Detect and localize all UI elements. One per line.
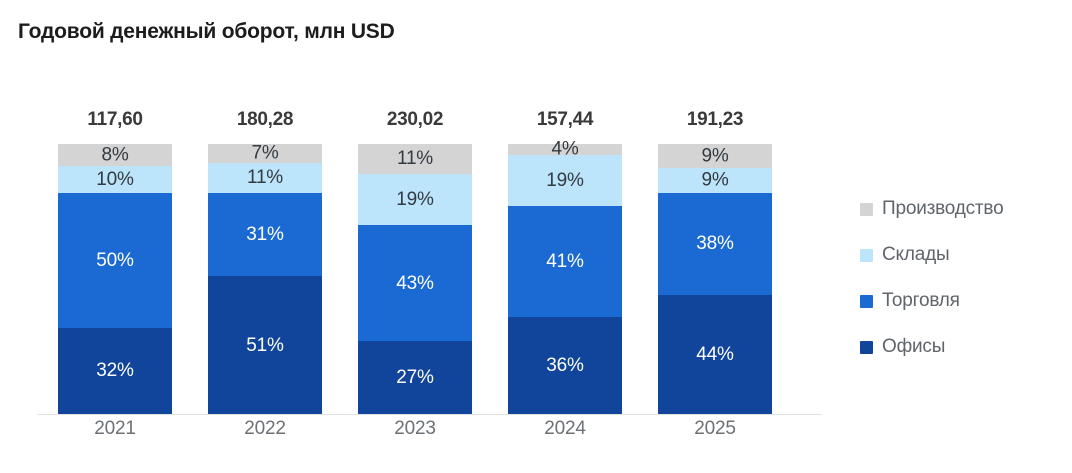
bar-segment-склады[interactable]: 10%: [58, 166, 172, 193]
bar-segment-производство[interactable]: 8%: [58, 144, 172, 166]
bar-segment-склады[interactable]: 19%: [358, 174, 472, 225]
segment-value-label: 31%: [246, 225, 283, 244]
segment-value-label: 43%: [396, 274, 433, 293]
bar-total-label: 117,60: [87, 109, 142, 131]
x-axis-tick-labels: 20212022202320242025: [0, 418, 840, 458]
bar-stack: 8%10%50%32%: [58, 144, 172, 414]
segment-value-label: 9%: [701, 147, 728, 166]
segment-value-label: 38%: [696, 234, 733, 253]
segment-value-label: 10%: [96, 170, 133, 189]
bar-segment-склады[interactable]: 19%: [508, 155, 622, 206]
legend-label: Офисы: [882, 336, 945, 358]
bar-segment-офисы[interactable]: 32%: [58, 328, 172, 414]
bar-total-label: 180,28: [237, 109, 293, 131]
legend-item-торговля[interactable]: Торговля: [860, 278, 1060, 324]
segment-value-label: 50%: [96, 251, 133, 270]
bar-segment-склады[interactable]: 11%: [208, 163, 322, 193]
bar-segment-склады[interactable]: 9%: [658, 168, 772, 192]
bar-segment-торговля[interactable]: 31%: [208, 193, 322, 277]
x-axis-line: [38, 414, 822, 415]
bar-stack: 11%19%43%27%: [358, 144, 472, 414]
bar-segment-производство[interactable]: 4%: [508, 144, 622, 155]
segment-value-label: 8%: [101, 145, 128, 164]
segment-value-label: 32%: [96, 361, 133, 380]
segment-value-label: 19%: [546, 171, 583, 190]
bar-segment-торговля[interactable]: 50%: [58, 193, 172, 328]
legend-swatch-icon: [860, 341, 873, 354]
bar-segment-торговля[interactable]: 41%: [508, 206, 622, 317]
bar-group-2021[interactable]: 117,608%10%50%32%: [58, 144, 172, 414]
legend-label: Склады: [882, 244, 949, 266]
bar-segment-офисы[interactable]: 27%: [358, 341, 472, 414]
bar-segment-производство[interactable]: 7%: [208, 144, 322, 163]
chart-container: Годовой денежный оборот, млн USD 117,608…: [0, 0, 1072, 473]
bar-segment-офисы[interactable]: 51%: [208, 276, 322, 414]
legend-item-склады[interactable]: Склады: [860, 232, 1060, 278]
segment-value-label: 9%: [701, 171, 728, 190]
bar-group-2022[interactable]: 180,287%11%31%51%: [208, 144, 322, 414]
bar-stack: 9%9%38%44%: [658, 144, 772, 414]
legend-label: Торговля: [882, 290, 960, 312]
segment-value-label: 19%: [396, 190, 433, 209]
legend-swatch-icon: [860, 295, 873, 308]
legend-item-офисы[interactable]: Офисы: [860, 324, 1060, 370]
bar-group-2025[interactable]: 191,239%9%38%44%: [658, 144, 772, 414]
legend-swatch-icon: [860, 203, 873, 216]
bar-total-label: 230,02: [387, 109, 443, 131]
x-tick-2021: 2021: [58, 418, 172, 440]
x-tick-2023: 2023: [358, 418, 472, 440]
bar-segment-офисы[interactable]: 44%: [658, 295, 772, 414]
x-tick-2024: 2024: [508, 418, 622, 440]
bar-group-2024[interactable]: 157,444%19%41%36%: [508, 144, 622, 414]
bar-segment-производство[interactable]: 11%: [358, 144, 472, 174]
plot-area: 117,608%10%50%32%180,287%11%31%51%230,02…: [0, 100, 840, 415]
chart-legend: ПроизводствоСкладыТорговляОфисы: [860, 186, 1060, 370]
segment-value-label: 11%: [397, 149, 433, 168]
segment-value-label: 44%: [696, 345, 733, 364]
segment-value-label: 7%: [251, 144, 278, 163]
bar-total-label: 157,44: [537, 109, 593, 131]
legend-label: Производство: [882, 198, 1003, 220]
chart-title: Годовой денежный оборот, млн USD: [18, 20, 395, 44]
bar-segment-производство[interactable]: 9%: [658, 144, 772, 168]
legend-item-производство[interactable]: Производство: [860, 186, 1060, 232]
segment-value-label: 36%: [546, 356, 583, 375]
bar-total-label: 191,23: [687, 109, 743, 131]
x-tick-2025: 2025: [658, 418, 772, 440]
segment-value-label: 51%: [246, 336, 283, 355]
segment-value-label: 27%: [396, 368, 433, 387]
segment-value-label: 11%: [247, 168, 283, 187]
bar-segment-торговля[interactable]: 38%: [658, 193, 772, 296]
segment-value-label: 41%: [546, 252, 583, 271]
bar-group-2023[interactable]: 230,0211%19%43%27%: [358, 144, 472, 414]
legend-swatch-icon: [860, 249, 873, 262]
bar-segment-торговля[interactable]: 43%: [358, 225, 472, 341]
bar-stack: 7%11%31%51%: [208, 144, 322, 414]
bar-stack: 4%19%41%36%: [508, 144, 622, 414]
x-tick-2022: 2022: [208, 418, 322, 440]
bar-segment-офисы[interactable]: 36%: [508, 317, 622, 414]
